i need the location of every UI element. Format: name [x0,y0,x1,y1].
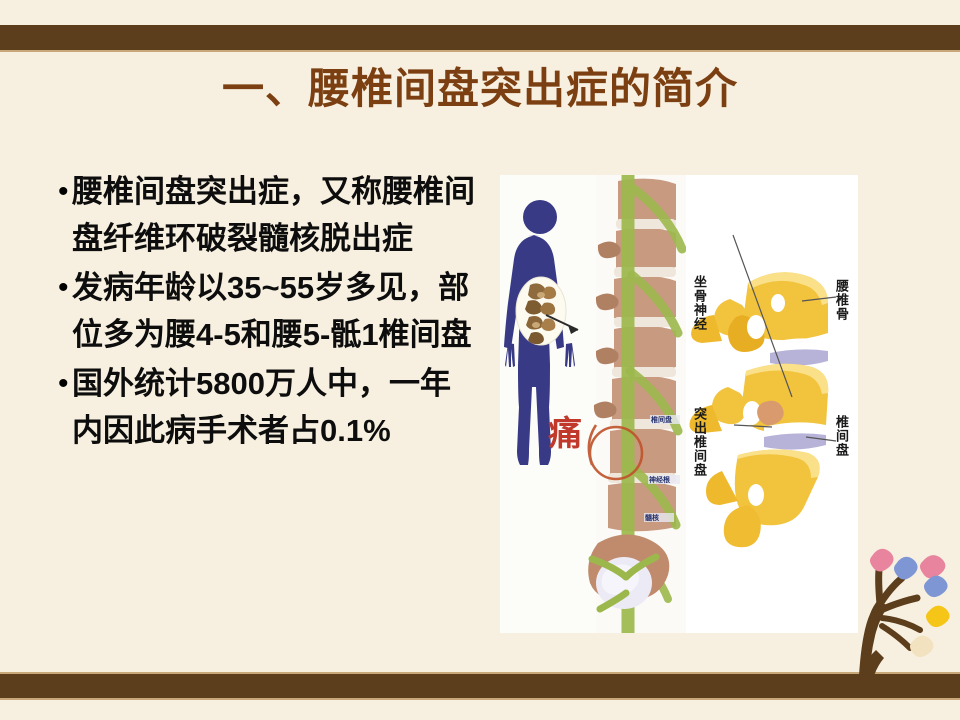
list-item: • 国外统计5800万人中，一年内因此病手术者占0.1% [48,360,478,454]
decorative-tree [840,520,960,696]
lower-disc-band [764,422,826,449]
label-herniated-disc: 突出椎间盘 [692,407,707,477]
pain-character-label: 痛 [548,417,582,451]
mini-label-nerve-root: 神经根 [649,475,670,485]
tree-icon [840,520,960,696]
vertebra-diagram-graphic [686,175,858,633]
bullet-list: • 腰椎间盘突出症，又称腰椎间盘纤维环破裂髓核脱出症 • 发病年龄以35~55岁… [48,168,478,456]
label-lumbar-vertebra: 腰椎骨 [834,279,849,321]
lumbar-disc-illustration: 痛 椎间盘 神经根 髓核 [500,175,858,633]
page-title: 一、腰椎间盘突出症的简介 [0,62,960,116]
label-intervertebral-disc: 椎间盘 [834,415,849,457]
spine-column-photo [588,175,686,633]
top-decorative-bar [0,25,960,52]
spine-anatomy-graphic [500,175,686,633]
list-item: • 腰椎间盘突出症，又称腰椎间盘纤维环破裂髓核脱出症 [48,168,478,262]
slide: 一、腰椎间盘突出症的简介 • 腰椎间盘突出症，又称腰椎间盘纤维环破裂髓核脱出症 … [0,0,960,720]
mini-label-disc: 椎间盘 [651,415,672,425]
bullet-text: 国外统计5800万人中，一年内因此病手术者占0.1% [72,360,478,454]
bullet-text: 腰椎间盘突出症，又称腰椎间盘纤维环破裂髓核脱出症 [72,168,478,262]
bullet-marker-icon: • [48,264,72,311]
mini-label-nucleus: 髓核 [645,513,659,523]
bullet-marker-icon: • [48,168,72,215]
label-sciatic-nerve: 坐骨神经 [692,275,707,331]
list-item: • 发病年龄以35~55岁多见，部位多为腰4-5和腰5-骶1椎间盘 [48,264,478,358]
bullet-marker-icon: • [48,360,72,407]
bullet-text: 发病年龄以35~55岁多见，部位多为腰4-5和腰5-骶1椎间盘 [72,264,478,358]
illustration-left-panel: 痛 椎间盘 神经根 髓核 [500,175,686,633]
illustration-right-panel: 坐骨神经 突出椎间盘 腰椎骨 椎间盘 [686,175,858,633]
bottom-decorative-bar [0,672,960,700]
